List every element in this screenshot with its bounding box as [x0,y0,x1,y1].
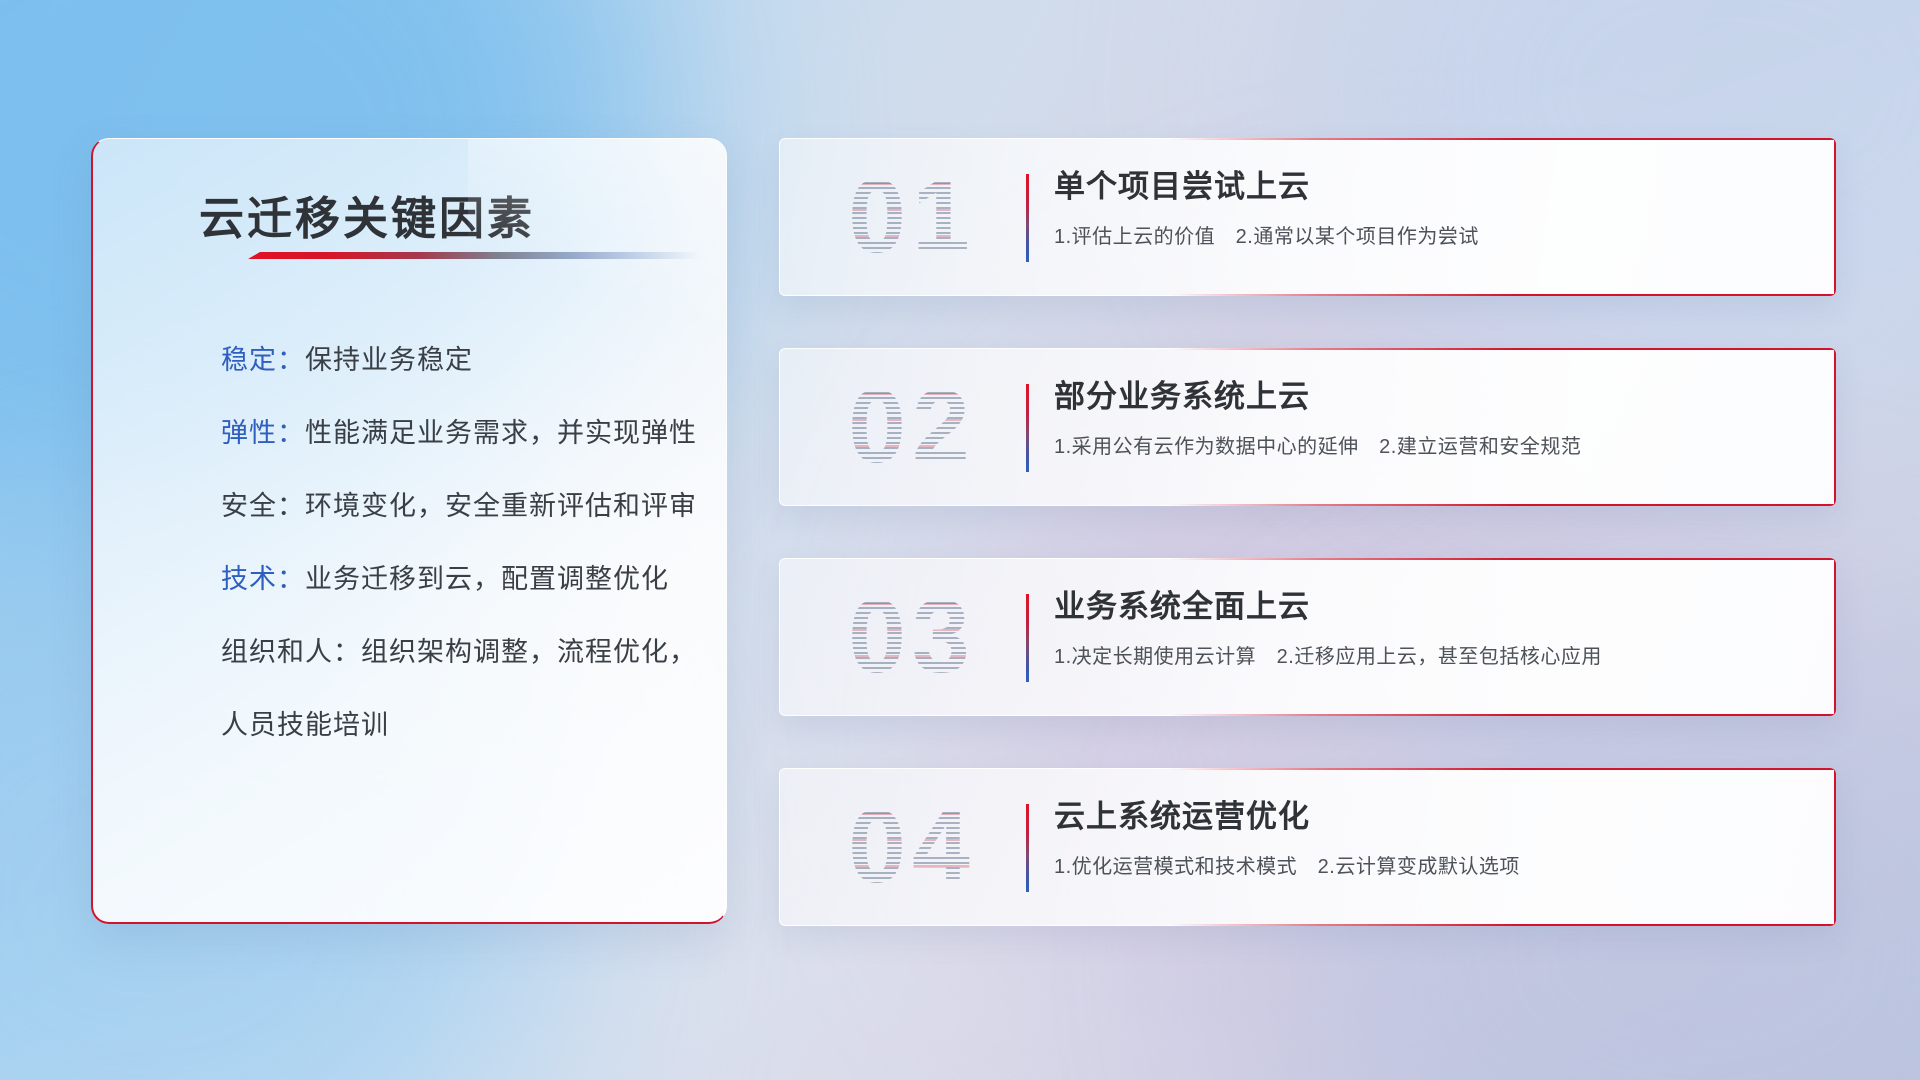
step-subtitle: 1.优化运营模式和技术模式 2.云计算变成默认选项 [1054,852,1806,882]
step-number-watermark-accent: 04 [817,787,1007,907]
step-title: 部分业务系统上云 [1054,374,1806,420]
card-accent-right [1834,768,1836,926]
list-item-text: 业务迁移到云，配置调整优化 [305,564,669,594]
step-number-watermark-accent: 01 [817,157,1007,277]
key-factors-list: 稳定：保持业务稳定 弹性：性能满足业务需求，并实现弹性 安全：环境变化，安全重新… [221,324,692,762]
list-item: 技术：业务迁移到云，配置调整优化 [221,543,692,616]
step-divider-bar [1026,594,1029,682]
card-accent-right [1834,138,1836,296]
card-accent-bottom [1170,504,1836,506]
step-number-watermark: 03 [817,577,1007,697]
card-accent-top [1170,138,1836,140]
card-accent-bottom [1170,924,1836,926]
step-content: 云上系统运营优化 1.优化运营模式和技术模式 2.云计算变成默认选项 [1054,794,1806,882]
list-item-text: 保持业务稳定 [305,345,473,375]
key-factors-panel: 云迁移关键因素 稳定：保持业务稳定 弹性：性能满足业务需求，并实现弹性 安全：环… [91,138,727,924]
card-accent-top [1170,348,1836,350]
card-accent-bottom [1170,294,1836,296]
list-item-text: 性能满足业务需求，并实现弹性 [305,418,697,448]
list-item-label: 安全： [221,491,305,521]
step-number-watermark: 01 [817,157,1007,277]
card-accent-top [1170,558,1836,560]
step-title: 云上系统运营优化 [1054,794,1806,840]
step-number-watermark-accent: 02 [817,367,1007,487]
list-item: 安全：环境变化，安全重新评估和评审 [221,470,692,543]
list-item-label: 稳定： [221,345,305,375]
page-title: 云迁移关键因素 [199,182,535,247]
step-card[interactable]: 02 02 部分业务系统上云 1.采用公有云作为数据中心的延伸 2.建立运营和安… [779,348,1836,506]
step-card[interactable]: 01 01 单个项目尝试上云 1.评估上云的价值 2.通常以某个项目作为尝试 [779,138,1836,296]
step-number-watermark: 02 [817,367,1007,487]
step-card[interactable]: 04 04 云上系统运营优化 1.优化运营模式和技术模式 2.云计算变成默认选项 [779,768,1836,926]
card-accent-top [1170,768,1836,770]
step-number-watermark-accent: 03 [817,577,1007,697]
title-underline-accent [248,252,700,259]
card-accent-right [1834,558,1836,716]
list-item-text: 组织架构调整，流程优化， [361,637,697,667]
step-subtitle: 1.评估上云的价值 2.通常以某个项目作为尝试 [1054,222,1806,252]
list-item-label: 技术： [221,564,305,594]
list-item-label: 组织和人： [221,637,361,667]
step-divider-bar [1026,804,1029,892]
step-subtitle: 1.决定长期使用云计算 2.迁移应用上云，甚至包括核心应用 [1054,642,1806,672]
step-content: 单个项目尝试上云 1.评估上云的价值 2.通常以某个项目作为尝试 [1054,164,1806,252]
step-content: 部分业务系统上云 1.采用公有云作为数据中心的延伸 2.建立运营和安全规范 [1054,374,1806,462]
step-content: 业务系统全面上云 1.决定长期使用云计算 2.迁移应用上云，甚至包括核心应用 [1054,584,1806,672]
slide-canvas: 云迁移关键因素 稳定：保持业务稳定 弹性：性能满足业务需求，并实现弹性 安全：环… [0,0,1920,1080]
step-title: 业务系统全面上云 [1054,584,1806,630]
list-item-text: 人员技能培训 [221,710,389,740]
step-subtitle: 1.采用公有云作为数据中心的延伸 2.建立运营和安全规范 [1054,432,1806,462]
step-number-watermark: 04 [817,787,1007,907]
step-title: 单个项目尝试上云 [1054,164,1806,210]
list-item-label: 弹性： [221,418,305,448]
step-divider-bar [1026,384,1029,472]
card-accent-right [1834,348,1836,506]
list-item-text: 环境变化，安全重新评估和评审 [305,491,697,521]
list-item: 组织和人：组织架构调整，流程优化， [221,616,692,689]
list-item: 稳定：保持业务稳定 [221,324,692,397]
card-accent-bottom [1170,714,1836,716]
migration-steps-list: 01 01 单个项目尝试上云 1.评估上云的价值 2.通常以某个项目作为尝试 0… [779,138,1836,978]
step-divider-bar [1026,174,1029,262]
step-card[interactable]: 03 03 业务系统全面上云 1.决定长期使用云计算 2.迁移应用上云，甚至包括… [779,558,1836,716]
list-item: 人员技能培训 [221,689,692,762]
list-item: 弹性：性能满足业务需求，并实现弹性 [221,397,692,470]
